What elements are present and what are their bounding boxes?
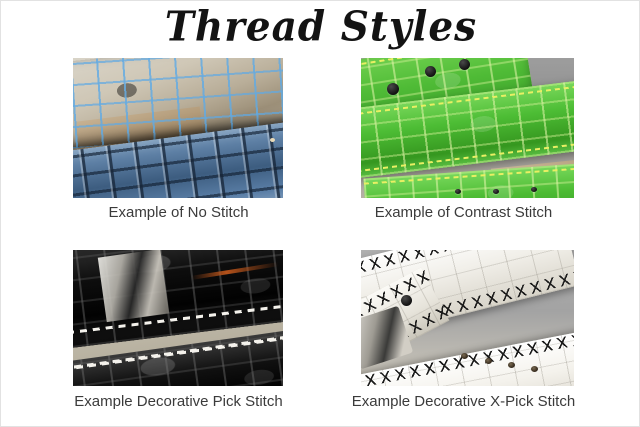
page-title: Thread Styles	[1, 2, 640, 52]
white-crocodile-belt-x-pick-stitch-photo	[361, 250, 574, 386]
photo-content	[73, 58, 283, 198]
black-crocodile-belt-pick-stitch-photo	[73, 250, 283, 386]
belt-hole	[485, 358, 492, 364]
caption-x-pick-stitch: Example Decorative X-Pick Stitch	[286, 393, 640, 410]
belt-hole	[493, 189, 499, 194]
panel-no-stitch	[73, 58, 283, 198]
belt-buckle	[98, 250, 169, 322]
blue-crocodile-belt-no-stitch-photo	[73, 58, 283, 198]
panel-contrast-stitch	[361, 58, 574, 198]
caption-contrast-stitch: Example of Contrast Stitch	[286, 204, 640, 221]
green-crocodile-belt-contrast-stitch-photo	[361, 58, 574, 198]
photo-content	[73, 250, 283, 386]
panel-x-pick-stitch	[361, 250, 574, 386]
panel-pick-stitch	[73, 250, 283, 386]
photo-content	[361, 58, 574, 198]
photo-content	[361, 250, 574, 386]
snap-stud	[387, 83, 399, 95]
belt-hole	[270, 138, 275, 142]
belt-hole	[461, 353, 468, 359]
belt-hole	[455, 189, 461, 194]
thread-styles-chart: Thread Styles Example of No Stitch	[0, 0, 640, 427]
